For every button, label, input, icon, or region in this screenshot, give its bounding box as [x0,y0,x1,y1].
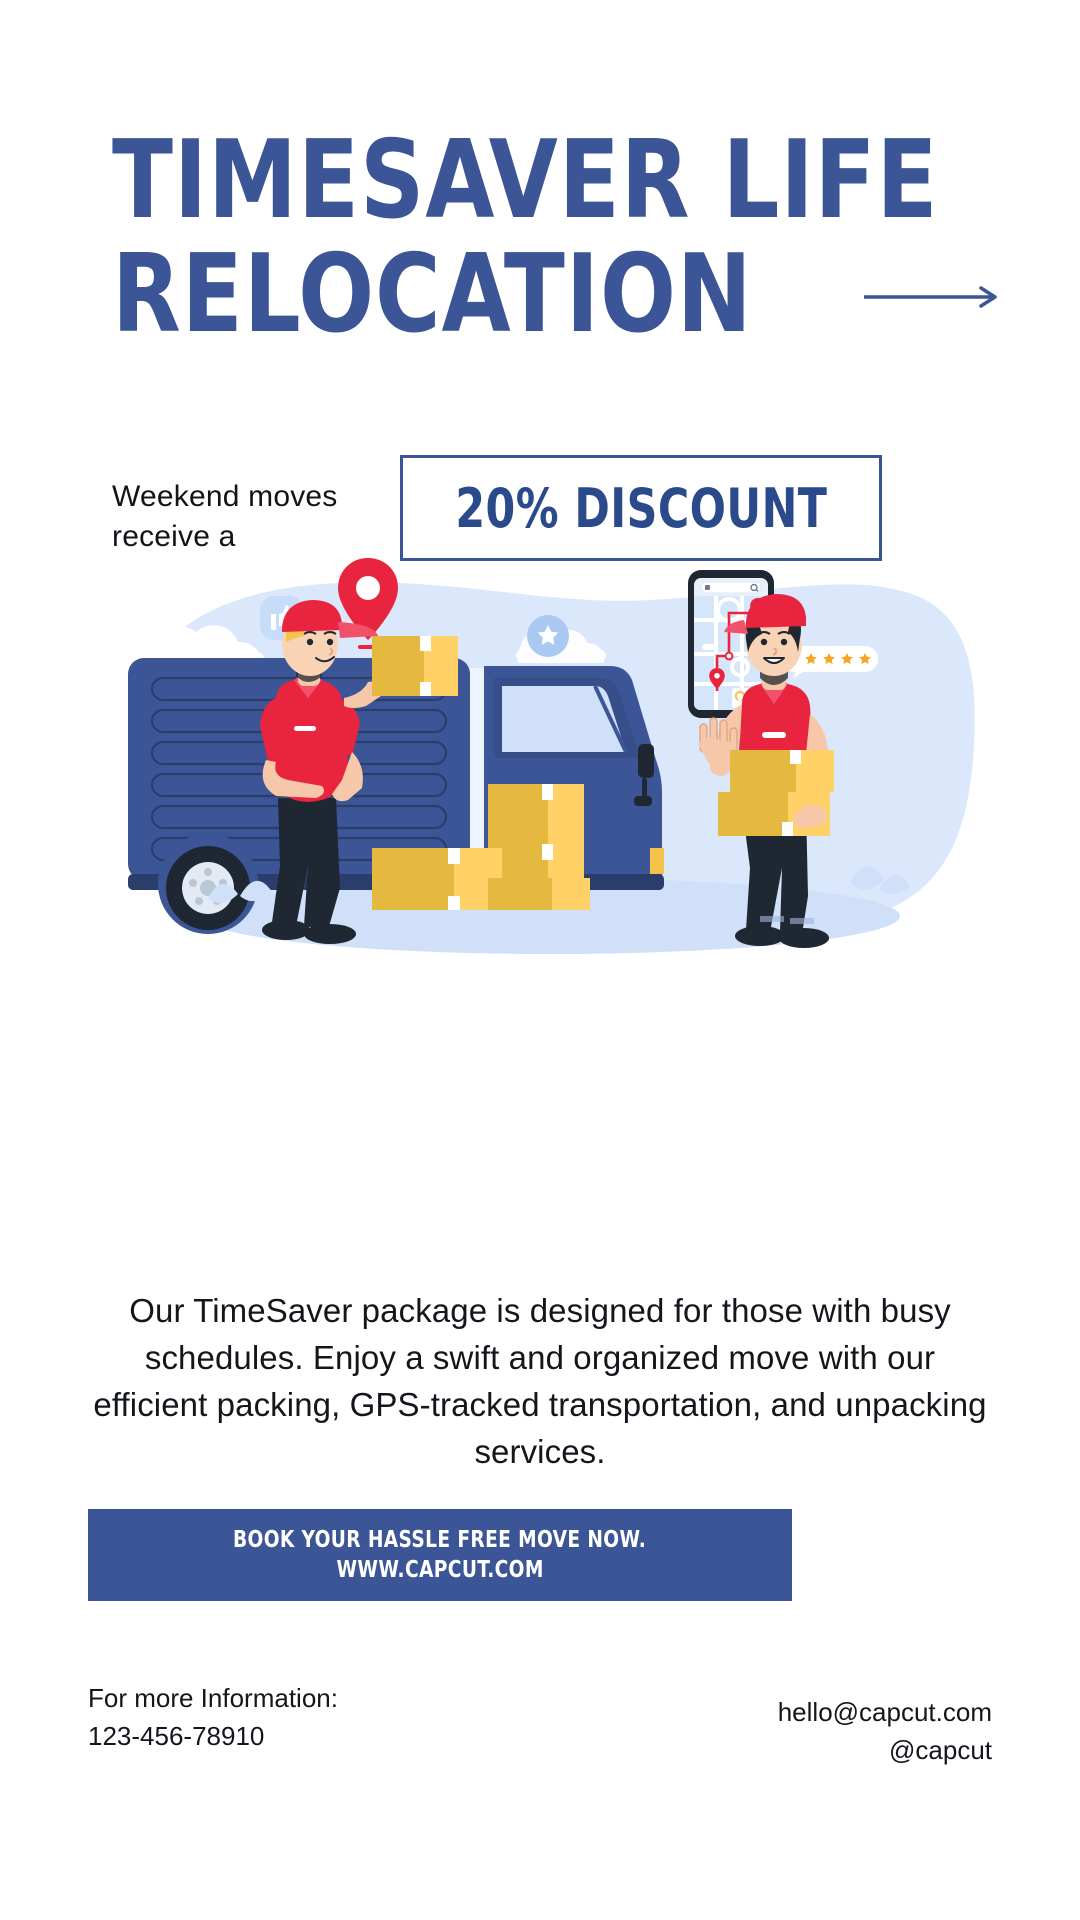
headline-line-2: RELOCATION [112,242,753,348]
headline-line-1: TIMESAVER LIFE [112,128,903,234]
footer-handle[interactable]: @capcut [778,1732,992,1770]
promo-row: Weekend moves receive a 20% DISCOUNT [112,455,972,561]
footer-info-label: For more Information: [88,1680,338,1718]
discount-badge[interactable]: 20% DISCOUNT [400,455,882,561]
held-box-left [372,636,458,696]
hero-illustration [90,548,990,988]
headline-row-2: RELOCATION [112,234,972,348]
cta-website: WWW.CAPCUT.COM [336,1557,543,1583]
cta-line-1: BOOK YOUR HASSLE FREE MOVE NOW. [233,1527,646,1553]
promo-lead-line-1: Weekend moves [112,477,392,517]
footer: For more Information: 123-456-78910 hell… [88,1680,992,1769]
star-badge-icon [527,615,569,657]
headline-block: TIMESAVER LIFE RELOCATION [112,128,972,348]
footer-phone[interactable]: 123-456-78910 [88,1718,338,1756]
footer-social: hello@capcut.com @capcut [778,1680,992,1769]
footer-email[interactable]: hello@capcut.com [778,1694,992,1732]
poster-root: TIMESAVER LIFE RELOCATION Weekend moves … [0,0,1080,1920]
discount-label: 20% DISCOUNT [455,477,827,540]
cta-banner[interactable]: BOOK YOUR HASSLE FREE MOVE NOW. WWW.CAPC… [88,1509,792,1601]
promo-lead-text: Weekend moves receive a [112,455,392,556]
body-paragraph: Our TimeSaver package is designed for th… [90,1288,990,1475]
arrow-right-icon [864,284,1004,315]
truck-wheel [158,834,258,934]
footer-contact-info: For more Information: 123-456-78910 [88,1680,338,1755]
